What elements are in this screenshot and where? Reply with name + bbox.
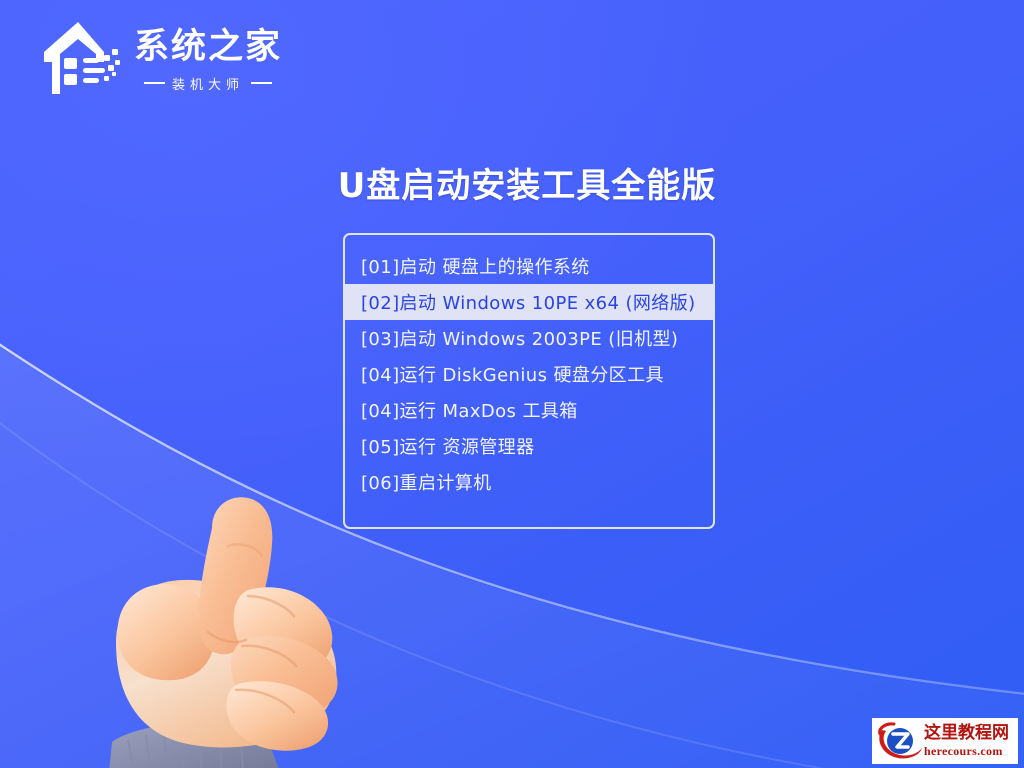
boot-menu-screen: 系统之家 装机大师 U盘启动安装工具全能版 [01]启动 硬盘上的操作系统 [0… (0, 0, 1024, 768)
house-pixel-logo-icon (38, 18, 122, 100)
pointing-hand-icon (88, 492, 448, 768)
menu-item-04-diskgenius[interactable]: [04]运行 DiskGenius 硬盘分区工具 (345, 356, 713, 392)
menu-item-05[interactable]: [05]运行 资源管理器 (345, 428, 713, 464)
menu-item-02[interactable]: [02]启动 Windows 10PE x64 (网络版) (345, 284, 713, 320)
watermark-site-url: herecours.com (924, 745, 1009, 757)
brand-tagline-row: 装机大师 (144, 74, 272, 93)
menu-item-01[interactable]: [01]启动 硬盘上的操作系统 (345, 248, 713, 284)
site-watermark: 这里教程网 herecours.com (872, 718, 1018, 764)
brand-tagline: 装机大师 (172, 74, 244, 93)
brand-name: 系统之家 (134, 29, 282, 66)
tagline-dash-left (144, 82, 165, 84)
menu-item-04-maxdos[interactable]: [04]运行 MaxDos 工具箱 (345, 392, 713, 428)
menu-item-03[interactable]: [03]启动 Windows 2003PE (旧机型) (345, 320, 713, 356)
brand-logo: 系统之家 装机大师 (38, 18, 282, 100)
boot-menu-list: [01]启动 硬盘上的操作系统 [02]启动 Windows 10PE x64 … (343, 233, 715, 529)
watermark-site-name: 这里教程网 (924, 725, 1009, 742)
z-circle-logo-icon (876, 720, 924, 762)
tagline-dash-right (251, 82, 272, 84)
page-title: U盘启动安装工具全能版 (0, 158, 1024, 207)
